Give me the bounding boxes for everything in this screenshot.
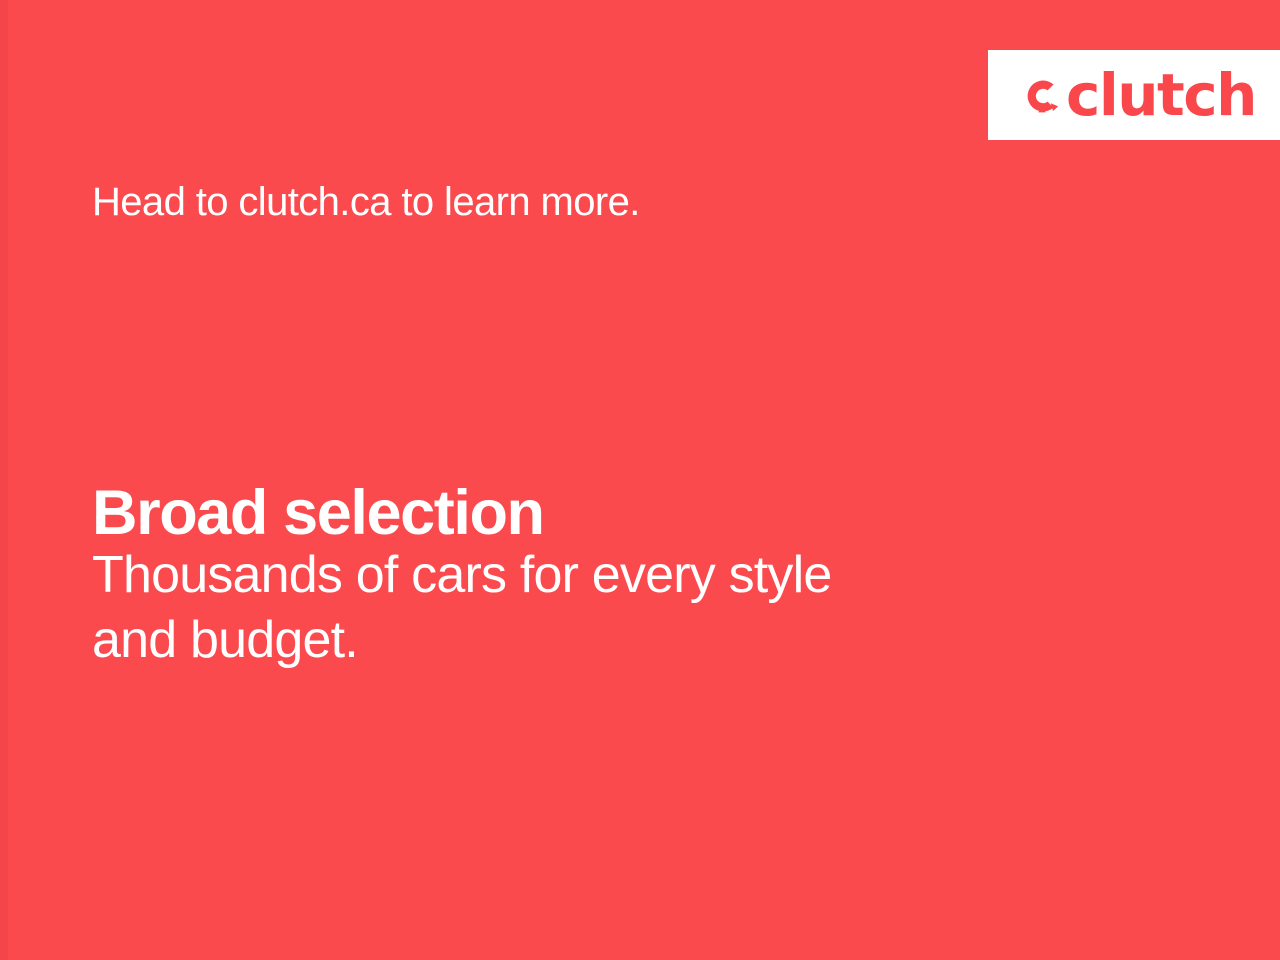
brand-logo-plate: clutch [988,50,1280,140]
subhead-line-1: Thousands of cars for every style [92,543,1052,608]
page-title: Broad selection [92,479,544,548]
left-edge-strip [0,0,8,960]
clutch-wordmark: clutch [1066,66,1256,124]
subhead-text: Thousands of cars for every style and bu… [92,543,1052,673]
eyebrow-text: Head to clutch.ca to learn more. [92,178,640,226]
clutch-c-mark [1020,72,1064,118]
promo-slide: clutch Head to clutch.ca to learn more. … [0,0,1280,960]
clutch-logo[interactable]: clutch [1020,66,1256,124]
subhead-line-2: and budget. [92,608,1052,673]
